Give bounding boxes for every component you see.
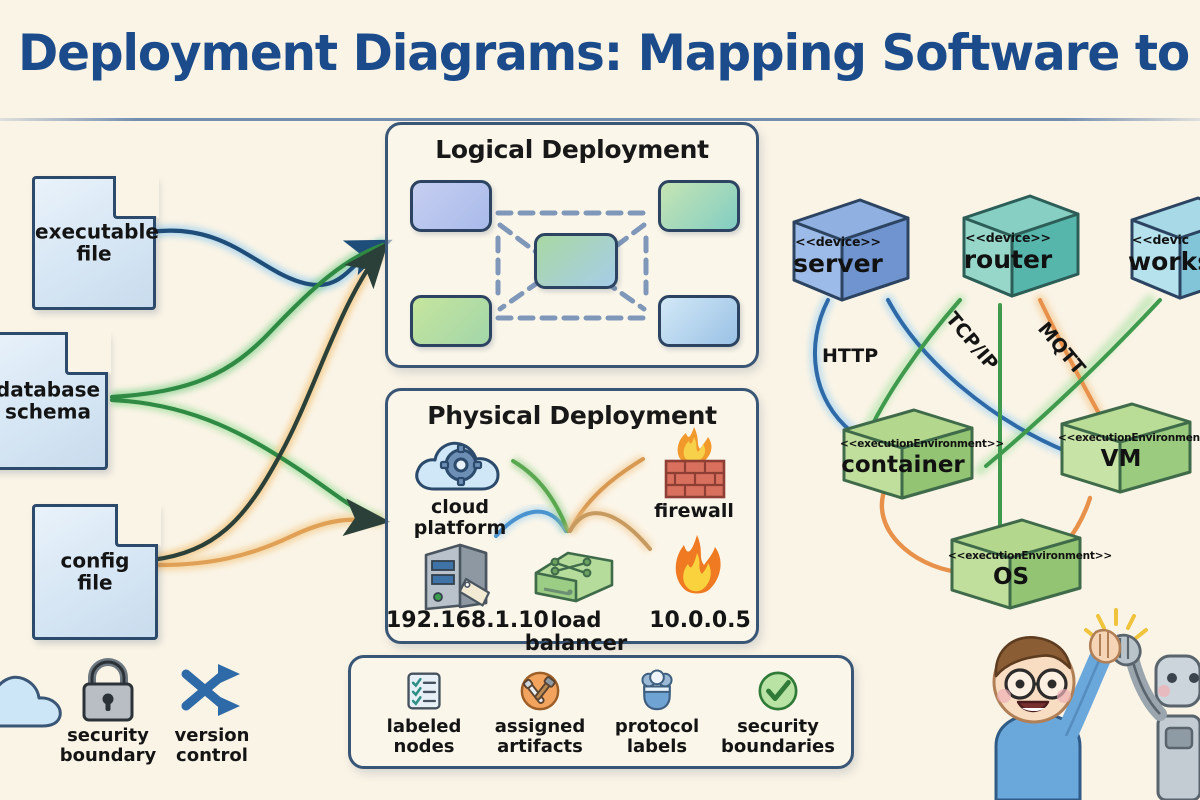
device-label: worksta	[1124, 247, 1200, 276]
firewall-icon[interactable]	[654, 423, 734, 503]
protocol-badge-icon	[598, 668, 716, 714]
logical-node-bottom-right[interactable]	[658, 295, 740, 347]
artifact-label: executable file	[35, 221, 153, 266]
flame-icon[interactable]	[664, 531, 730, 609]
protocol-label-tcpip: TCP/IP	[941, 308, 1002, 375]
exec-env-vm[interactable]: <<executionEnvironment>> VM	[1058, 392, 1194, 502]
legend-label: security boundaries	[714, 717, 842, 757]
device-workstation[interactable]: <<devic worksta	[1128, 180, 1200, 304]
version-control-icon[interactable]: version control	[166, 658, 258, 768]
load-balancer-label: load balancer	[506, 609, 646, 655]
exec-env-label: container	[840, 452, 966, 478]
flame-ip-label: 10.0.0.5	[636, 609, 764, 633]
exec-env-container[interactable]: <<executionEnvironment>> container	[840, 398, 976, 508]
device-stereotype: <<devic	[1124, 232, 1200, 247]
cloud-platform-label: cloud platform	[400, 497, 520, 539]
device-server[interactable]: <<device>> server	[790, 182, 912, 306]
title-divider	[0, 118, 1200, 121]
page-fold-icon	[65, 332, 108, 375]
logical-node-bottom-left[interactable]	[410, 295, 492, 347]
logical-node-top-right[interactable]	[658, 180, 740, 232]
device-router[interactable]: <<device>> router	[960, 178, 1082, 302]
page-title: Deployment Diagrams: Mapping Software to…	[18, 24, 1182, 82]
diagram-canvas: Deployment Diagrams: Mapping Software to…	[0, 0, 1200, 800]
page-fold-icon	[115, 504, 158, 547]
artifact-config-file[interactable]: config file	[32, 504, 152, 634]
server-tower-icon[interactable]	[416, 537, 502, 613]
security-boundary-label: security boundary	[60, 726, 157, 766]
document-shape: database schema	[0, 332, 108, 470]
document-shape: executable file	[32, 176, 156, 310]
exec-env-label: VM	[1058, 446, 1184, 472]
cloud-platform-icon[interactable]	[410, 431, 510, 497]
artifact-label: config file	[35, 550, 155, 595]
device-stereotype: <<device>>	[786, 234, 890, 249]
logical-node-top-left[interactable]	[410, 180, 492, 232]
document-shape: config file	[32, 504, 158, 640]
physical-deployment-panel: Physical Deployment	[385, 388, 759, 644]
boy-robot-highfive	[960, 596, 1200, 800]
legend-protocol-labels[interactable]: protocol labels	[598, 668, 716, 757]
legend-security-boundaries[interactable]: security boundaries	[714, 668, 842, 757]
logical-node-center[interactable]	[534, 233, 618, 289]
protocol-label-mqtt: MQTT	[1033, 318, 1089, 379]
green-check-icon	[714, 668, 842, 714]
artifact-database-schema[interactable]: database schema	[0, 332, 102, 464]
load-balancer-icon[interactable]	[528, 543, 620, 609]
artifact-executable-file[interactable]: executable file	[32, 176, 150, 304]
legend-label: labeled nodes	[365, 717, 483, 757]
version-control-label: version control	[175, 726, 250, 766]
legend-label: protocol labels	[598, 717, 716, 757]
checklist-icon	[365, 668, 483, 714]
device-stereotype: <<device>>	[956, 230, 1060, 245]
exec-env-stereotype: <<executionEnvironment>>	[1058, 432, 1184, 444]
exec-env-stereotype: <<executionEnvironment>>	[948, 550, 1074, 562]
legend-label: assigned artifacts	[481, 717, 599, 757]
legend-labeled-nodes[interactable]: labeled nodes	[365, 668, 483, 757]
firewall-label: firewall	[644, 501, 744, 522]
page-fold-icon	[113, 176, 156, 219]
protocol-label-http: HTTP	[822, 345, 878, 367]
device-label: router	[956, 245, 1060, 274]
exec-env-label: OS	[948, 564, 1074, 590]
exec-env-stereotype: <<executionEnvironment>>	[840, 438, 966, 450]
legend-assigned-artifacts[interactable]: assigned artifacts	[481, 668, 599, 757]
security-boundary-icon[interactable]: security boundary	[62, 658, 154, 768]
tools-circle-icon	[481, 668, 599, 714]
device-label: server	[786, 249, 890, 278]
legend-panel: labeled nodes assigned artifacts	[348, 655, 854, 769]
artifact-label: database schema	[0, 379, 105, 424]
logical-deployment-panel: Logical Deployment	[385, 122, 759, 368]
